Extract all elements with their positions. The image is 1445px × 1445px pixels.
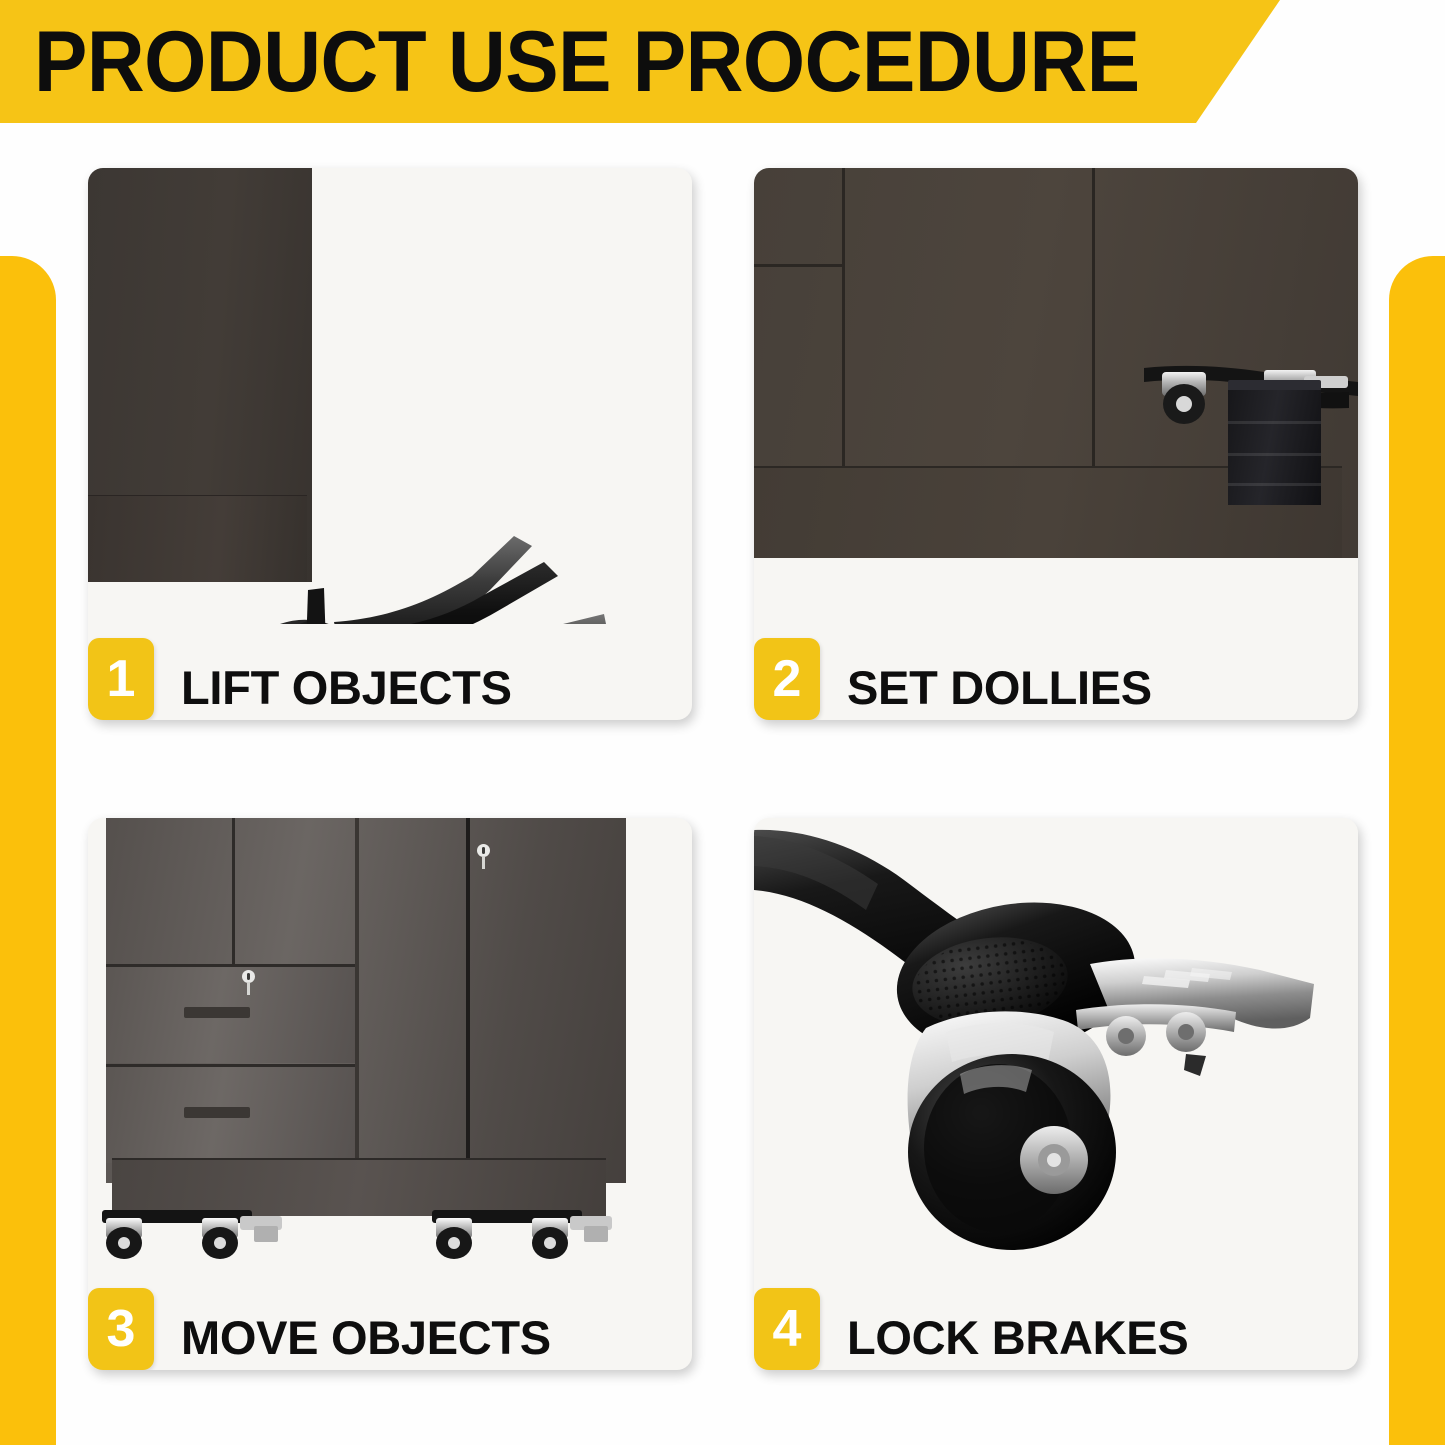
step-1-photo bbox=[88, 168, 692, 624]
step-2-label: SET DOLLIES bbox=[847, 664, 1152, 711]
panel-seam bbox=[466, 818, 470, 1158]
panel-seam bbox=[842, 168, 845, 466]
step-1-badge: 1 bbox=[88, 638, 154, 720]
step-3-badge: 3 bbox=[88, 1288, 154, 1370]
furniture-lifter-icon bbox=[214, 510, 634, 624]
step-3-photo bbox=[88, 818, 692, 1274]
step-1-caption: 1 LIFT OBJECTS bbox=[88, 624, 692, 720]
drawer-handle[interactable] bbox=[184, 1107, 250, 1118]
dolly-block-groove bbox=[1228, 483, 1321, 486]
step-2-badge: 2 bbox=[754, 638, 820, 720]
step-card-3[interactable]: 3 MOVE OBJECTS bbox=[88, 818, 692, 1370]
header-banner: PRODUCT USE PROCEDURE bbox=[0, 0, 1280, 123]
panel-seam bbox=[232, 818, 235, 966]
step-card-2[interactable]: 2 SET DOLLIES bbox=[754, 168, 1358, 720]
panel-seam bbox=[355, 818, 359, 1183]
step-4-badge: 4 bbox=[754, 1288, 820, 1370]
cabinet-skirt bbox=[112, 1158, 606, 1216]
caster-wheel-icon bbox=[94, 1210, 614, 1260]
step-1-label: LIFT OBJECTS bbox=[181, 664, 512, 711]
cabinet-body bbox=[106, 818, 626, 1183]
right-accent-bar bbox=[1389, 256, 1445, 1445]
step-2-caption: 2 SET DOLLIES bbox=[754, 624, 1358, 720]
caster-brake-closeup-icon bbox=[754, 818, 1358, 1274]
key-lock-icon bbox=[477, 844, 490, 869]
step-4-caption: 4 LOCK BRAKES bbox=[754, 1274, 1358, 1370]
drawer-handle[interactable] bbox=[184, 1007, 250, 1018]
step-3-label: MOVE OBJECTS bbox=[181, 1314, 551, 1361]
step-card-1[interactable]: 1 LIFT OBJECTS bbox=[88, 168, 692, 720]
infographic-root: PRODUCT USE PROCEDURE bbox=[0, 0, 1445, 1445]
office-cabinet bbox=[106, 818, 626, 1216]
panel-seam bbox=[754, 264, 842, 267]
step-2-photo bbox=[754, 168, 1358, 624]
left-accent-bar bbox=[0, 256, 56, 1445]
key-lock-icon bbox=[242, 970, 255, 995]
panel-seam bbox=[1092, 168, 1095, 466]
dolly-block bbox=[1228, 390, 1321, 505]
step-4-photo bbox=[754, 818, 1358, 1274]
step-3-caption: 3 MOVE OBJECTS bbox=[88, 1274, 692, 1370]
step-4-label: LOCK BRAKES bbox=[847, 1314, 1188, 1361]
steps-grid: 1 LIFT OBJECTS bbox=[88, 168, 1358, 1397]
page-title: PRODUCT USE PROCEDURE bbox=[34, 8, 1140, 116]
step-card-4[interactable]: 4 LOCK BRAKES bbox=[754, 818, 1358, 1370]
